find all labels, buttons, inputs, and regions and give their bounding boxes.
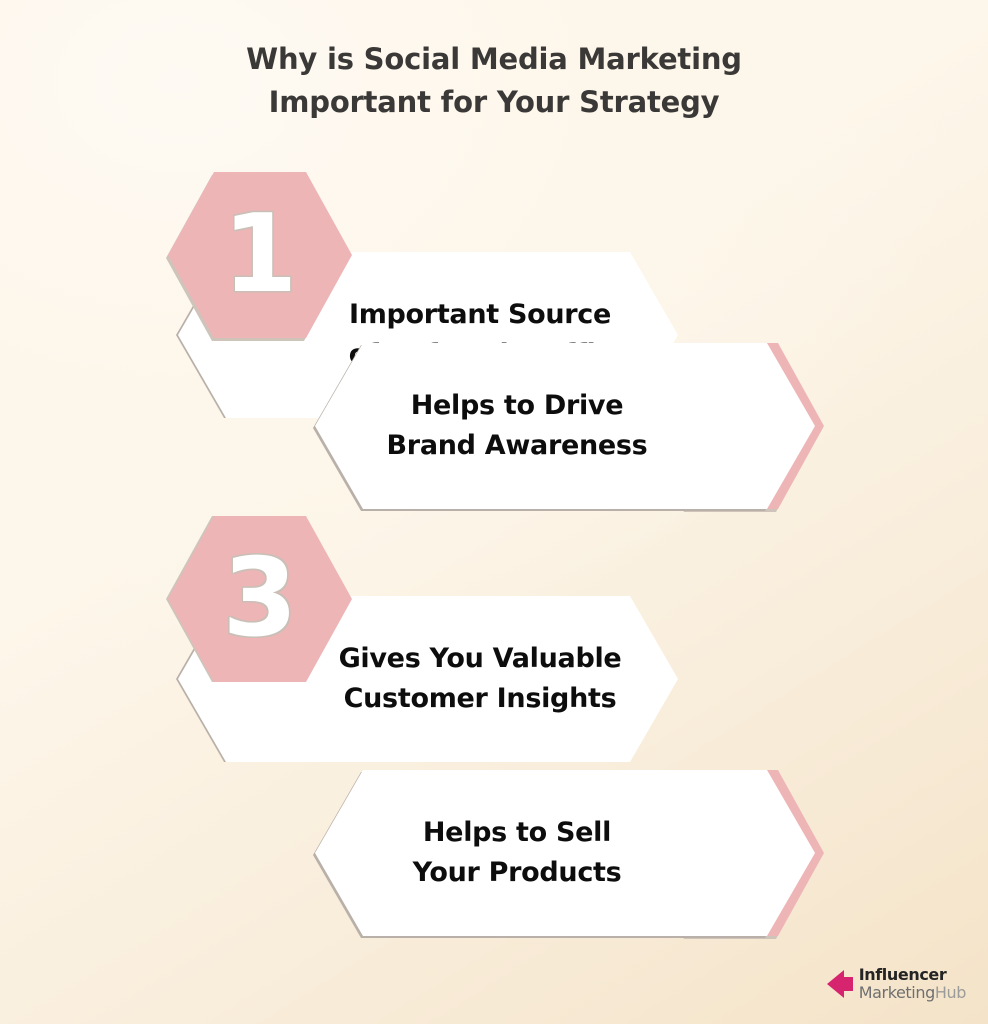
brand-logo-line-1: Influencer <box>859 966 966 984</box>
item-badge-wrapper: 3 <box>0 516 988 706</box>
left-arrow-icon <box>827 969 853 999</box>
brand-logo: Influencer MarketingHub <box>827 966 966 1002</box>
item-banner: Helps to Drive Brand Awareness <box>315 343 815 509</box>
brand-logo-line-2: MarketingHub <box>859 984 966 1002</box>
page-title-line-1: Why is Social Media Marketing <box>0 38 988 81</box>
list-item: Gives You Valuable Customer Insights 3 <box>0 516 988 706</box>
item-number: 1 <box>222 201 297 309</box>
brand-logo-hub: Hub <box>935 983 966 1002</box>
infographic-canvas: Why is Social Media Marketing Important … <box>0 0 988 1024</box>
list-item: Helps to Drive Brand Awareness 2 <box>0 343 988 533</box>
item-banner: Helps to Sell Your Products <box>315 770 815 936</box>
item-number-badge: 1 <box>168 172 352 338</box>
brand-logo-text: Influencer MarketingHub <box>859 966 966 1002</box>
item-number-badge: 3 <box>168 516 352 682</box>
list-item: Helps to Sell Your Products 4 <box>0 770 988 960</box>
page-title: Why is Social Media Marketing Important … <box>0 38 988 124</box>
item-number: 3 <box>222 545 297 653</box>
list-item: Important Source of Referral Traffic 1 <box>0 172 988 362</box>
item-banner-wrapper: Helps to Drive Brand Awareness <box>0 343 988 533</box>
item-label: Helps to Drive Brand Awareness <box>387 386 648 466</box>
item-badge-wrapper: 1 <box>0 172 988 362</box>
page-title-line-2: Important for Your Strategy <box>0 81 988 124</box>
item-banner-wrapper: Helps to Sell Your Products <box>0 770 988 960</box>
brand-logo-marketing: Marketing <box>859 983 935 1002</box>
item-label: Helps to Sell Your Products <box>413 813 622 893</box>
